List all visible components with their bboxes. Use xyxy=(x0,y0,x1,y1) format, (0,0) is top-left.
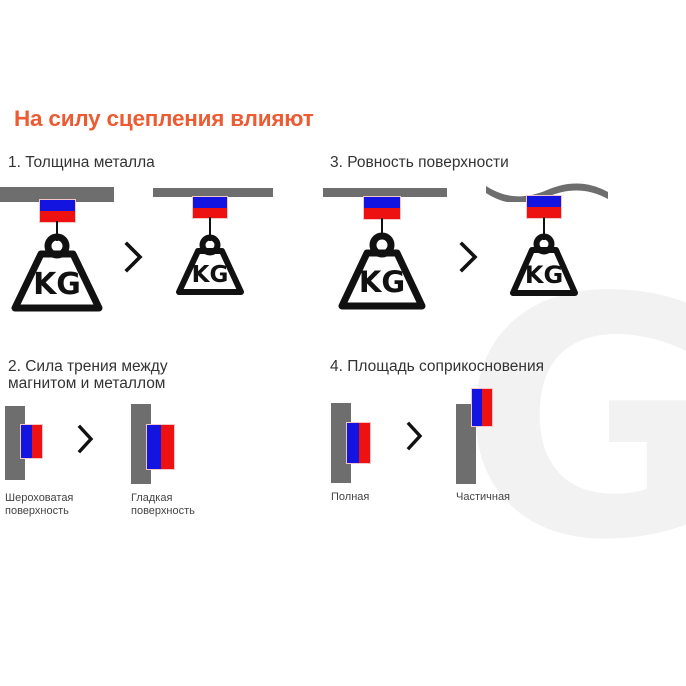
svg-text:KG: KG xyxy=(525,261,563,289)
comparison-chevron-s4 xyxy=(403,421,425,451)
svg-text:KG: KG xyxy=(33,267,81,302)
caption-s2-right: Гладкая поверхность xyxy=(131,492,236,518)
magnet-pole-red xyxy=(359,423,371,463)
magnet-pole-red xyxy=(482,389,492,426)
magnet-pole-blue xyxy=(347,423,359,463)
section-4-heading: 4. Площадь соприкосновения xyxy=(330,358,544,375)
caption-s2-left: Шероховатая поверхность xyxy=(5,492,110,518)
weight-s1-right: KG xyxy=(172,234,248,296)
caption-s4-left: Полная xyxy=(331,491,441,504)
svg-text:KG: KG xyxy=(359,265,405,299)
comparison-chevron-s3 xyxy=(455,240,481,274)
svg-text:KG: KG xyxy=(192,262,229,288)
metal-bar-thin xyxy=(153,188,273,197)
magnet-pole-red xyxy=(161,425,175,469)
magnet-s3-right xyxy=(527,196,561,218)
weight-s3-left: KG xyxy=(332,231,432,310)
weight-s1-left: KG xyxy=(5,232,109,312)
magnet-s3-left xyxy=(364,197,400,219)
magnet-s2-left xyxy=(21,425,42,458)
magnet-pole-blue xyxy=(21,425,32,458)
magnet-pole-blue xyxy=(40,200,75,211)
section-1-heading: 1. Толщина металла xyxy=(8,154,155,171)
magnet-s2-right xyxy=(147,425,174,469)
caption-s4-right: Частичная xyxy=(456,491,566,504)
comparison-chevron-s2 xyxy=(74,424,96,454)
page-title: На силу сцепления влияют xyxy=(14,106,314,132)
magnet-pole-blue xyxy=(364,197,400,208)
comparison-chevron-s1 xyxy=(120,240,146,274)
section-2-heading: 2. Сила трения между магнитом и металлом xyxy=(8,358,168,393)
magnet-pole-red xyxy=(32,425,43,458)
metal-bar-flat xyxy=(323,188,447,197)
magnet-s1-left xyxy=(40,200,75,222)
magnet-pole-blue xyxy=(472,389,482,426)
magnet-pole-blue xyxy=(527,196,561,207)
magnet-pole-blue xyxy=(147,425,161,469)
infographic-page: На силу сцепления влияют 1. Толщина мета… xyxy=(0,0,686,686)
section-3-heading: 3. Ровность поверхности xyxy=(330,154,509,171)
magnet-s4-right xyxy=(472,389,492,426)
weight-s3-right: KG xyxy=(505,233,584,298)
magnet-s4-left xyxy=(347,423,370,463)
magnet-s1-right xyxy=(193,197,227,218)
magnet-pole-blue xyxy=(193,197,227,208)
